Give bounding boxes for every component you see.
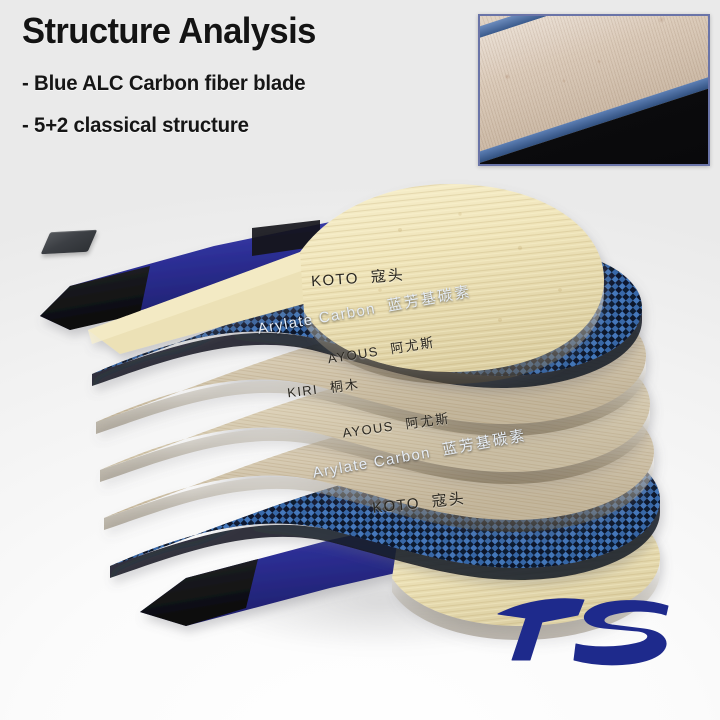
page-title: Structure Analysis (22, 12, 316, 50)
laminate-bands (478, 14, 710, 166)
inset-photo-content (478, 14, 710, 166)
bullet-blue-alc: - Blue ALC Carbon fiber blade (22, 72, 319, 96)
blade-edge-macro-photo (478, 14, 710, 166)
brand-logo-7s (492, 588, 670, 674)
structure-analysis-infographic: Structure Analysis - Blue ALC Carbon fib… (0, 0, 720, 720)
header-block: Structure Analysis - Blue ALC Carbon fib… (22, 12, 328, 138)
bullet-construction: - 5+2 classical structure (22, 114, 319, 138)
